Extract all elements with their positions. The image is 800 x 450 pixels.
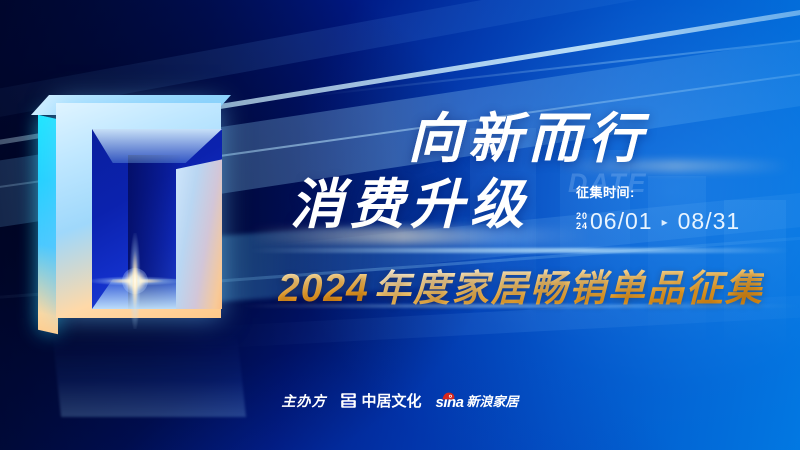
- zhongju-name: 中居文化: [361, 390, 421, 411]
- date-year-bottom: 24: [576, 222, 588, 232]
- star-glow-icon: [134, 280, 136, 282]
- subtitle-shine-top: [250, 248, 790, 253]
- partner-logo-sina[interactable]: sina 新浪家居: [435, 391, 518, 410]
- partner-logo-zhongju[interactable]: 中居文化: [340, 390, 421, 411]
- headline-underglow: [250, 228, 590, 244]
- promo-banner: 向新而行 消费升级 DATE 征集时间: 20 24 06/01 ▸ 08/31…: [0, 0, 800, 450]
- date-year-stack: 20 24: [576, 212, 588, 231]
- date-end: 08/31: [678, 208, 741, 235]
- date-label: 征集时间:: [576, 182, 740, 201]
- footer-sponsors: 主办方 中居文化: [0, 390, 800, 411]
- date-start: 06/01: [590, 208, 653, 235]
- subtitle-shine-bottom: [240, 304, 800, 308]
- sina-home-name: 新浪家居: [467, 391, 519, 410]
- date-block: DATE 征集时间: 20 24 06/01 ▸ 08/31: [576, 182, 740, 235]
- date-range-row: 20 24 06/01 ▸ 08/31: [576, 208, 740, 235]
- sina-wordmark: sina: [435, 395, 463, 410]
- portal-door-graphic: [38, 95, 253, 350]
- organizer-label: 主办方: [281, 391, 326, 411]
- door-interior-ceiling: [92, 129, 222, 163]
- date-arrow-icon: ▸: [662, 215, 669, 229]
- headline-line-1: 向新而行: [408, 112, 648, 166]
- door-open-panel: [176, 159, 222, 309]
- star-core: [122, 268, 148, 294]
- sina-eye-icon: [442, 388, 455, 396]
- door-left-face: [38, 115, 58, 335]
- zhongju-mark-icon: [340, 392, 357, 409]
- headline-line-2: 消费升级: [290, 178, 530, 232]
